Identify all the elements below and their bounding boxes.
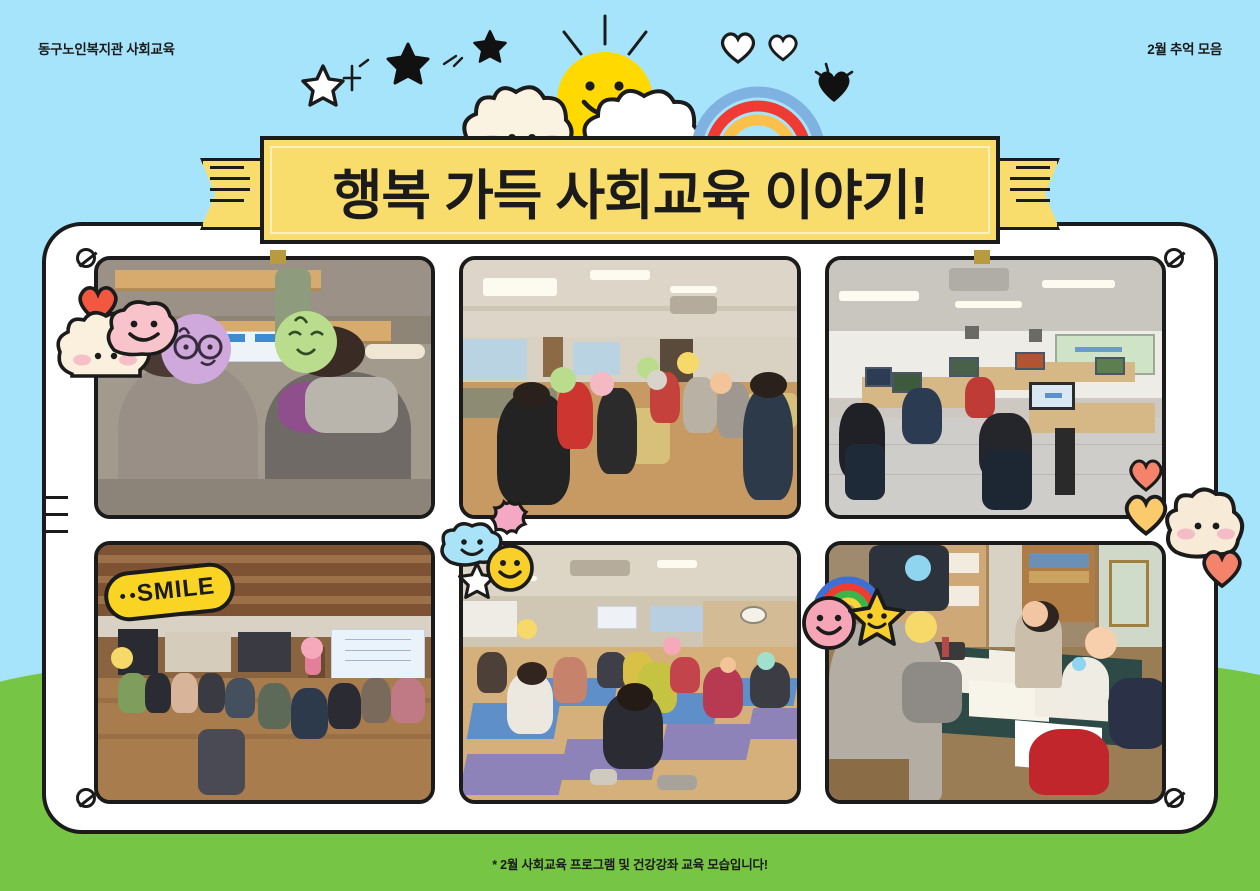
- face-sticker-mint: [757, 652, 775, 670]
- smile-eyes: [120, 592, 135, 599]
- ribbon-panel: 행복 가득 사회교육 이야기!: [260, 136, 1000, 244]
- face-sticker-peach: [1022, 601, 1048, 627]
- screw-icon: [76, 788, 96, 808]
- title-ribbon: 행복 가득 사회교육 이야기!: [200, 136, 1060, 252]
- photo-computer-class[interactable]: [825, 256, 1166, 519]
- face-sticker-pink: [301, 637, 323, 659]
- header-left-label: 동구노인복지관 사회교육: [38, 38, 175, 58]
- page-title: 행복 가득 사회교육 이야기!: [333, 151, 927, 230]
- face-sticker-orange: [710, 372, 732, 394]
- face-sticker-yellow: [517, 619, 537, 639]
- header-bar: 동구노인복지관 사회교육 2월 추억 모음: [0, 0, 1260, 70]
- heart-salmon-bottom-sticker: [1196, 542, 1248, 590]
- poster-canvas: 동구노인복지관 사회교육 2월 추억 모음: [0, 0, 1260, 891]
- ribbon-fold-right: [974, 250, 990, 264]
- photo-dance-exercise[interactable]: [459, 256, 800, 519]
- photo-scene: [463, 260, 796, 515]
- screw-icon: [1164, 788, 1184, 808]
- screw-icon: [76, 248, 96, 268]
- ribbon-tail-left-lines: [210, 166, 266, 224]
- board-left-ticks: [42, 496, 68, 547]
- face-sticker-green: [275, 311, 337, 373]
- smiley-yellow-sticker: [484, 542, 536, 594]
- face-sticker-green: [550, 367, 576, 393]
- face-sticker-pink: [590, 372, 614, 396]
- face-sticker-grey: [647, 370, 667, 390]
- face-sticker-yellow: [677, 352, 699, 374]
- ribbon-fold-left: [270, 250, 286, 264]
- star-yellow-sticker: [846, 586, 908, 648]
- face-sticker-pink: [663, 637, 681, 655]
- face-sticker-peach-2: [1085, 627, 1117, 659]
- smiley-pink-sticker: [104, 296, 182, 358]
- header-right-label: 2월 추억 모음: [1147, 38, 1222, 58]
- ribbon-tail-right-lines: [994, 166, 1050, 224]
- photo-grid: SMILE: [94, 256, 1166, 804]
- photo-scene: [829, 260, 1162, 515]
- footer-caption: * 2월 사회교육 프로그램 및 건강강좌 교육 모습입니다!: [0, 854, 1260, 873]
- smiling-face-icon: [275, 311, 337, 373]
- smile-label: SMILE: [136, 572, 217, 608]
- photo-lecture-hall[interactable]: SMILE: [94, 541, 435, 804]
- screw-icon: [1164, 248, 1184, 268]
- photo-board: SMILE: [42, 222, 1218, 834]
